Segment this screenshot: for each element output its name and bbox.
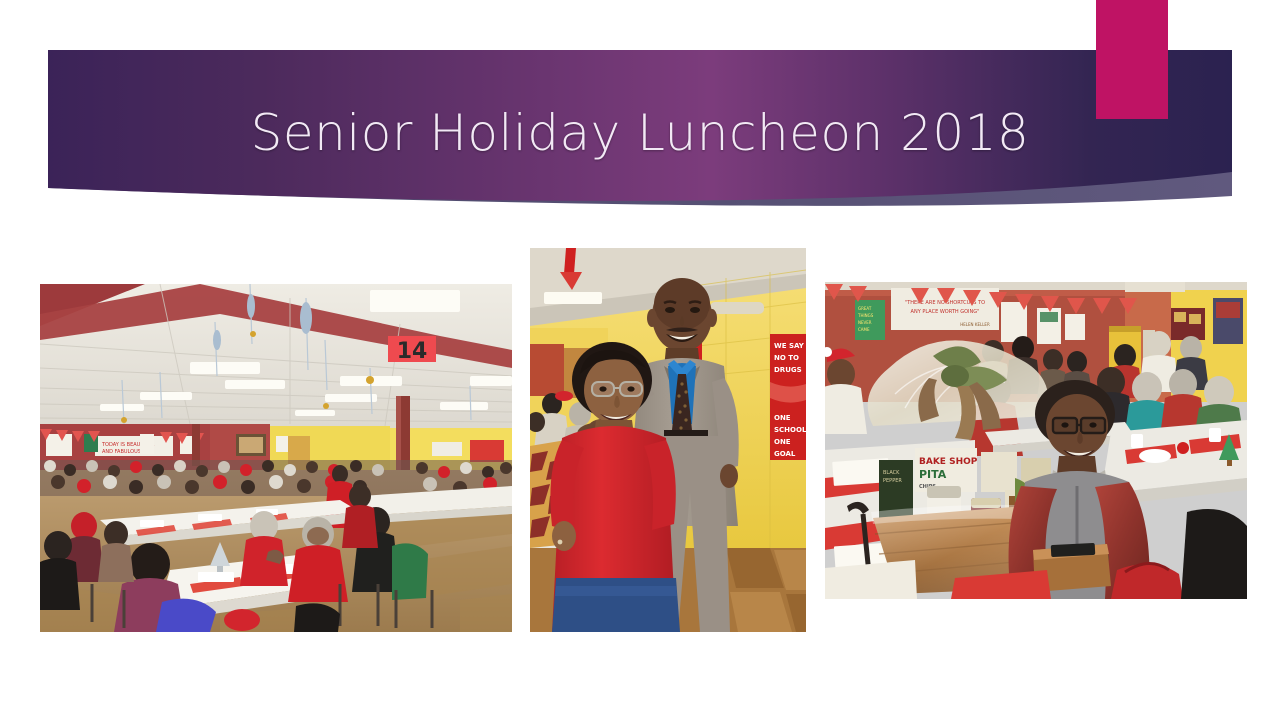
svg-text:HELEN KELLER: HELEN KELLER [960,322,990,327]
svg-text:14: 14 [397,339,428,364]
svg-text:NO TO: NO TO [774,354,799,362]
page-title: Senior Holiday Luncheon 2018 [48,104,1232,162]
svg-text:BLACK: BLACK [883,470,900,476]
svg-text:NEVER: NEVER [858,320,872,325]
svg-text:CAME: CAME [858,327,870,332]
presentation-slide: Senior Holiday Luncheon 2018 [0,0,1280,720]
table-number-sign-14: 14 [388,336,436,364]
svg-text:DRUGS: DRUGS [774,366,802,374]
gift-basket-photo[interactable]: "THERE ARE NO SHORTCUTS TO ANY PLACE WOR… [825,282,1247,599]
svg-text:SCHOOL: SCHOOL [774,426,806,434]
banquet-hall-photo[interactable]: 14 [40,284,512,632]
svg-text:PITA: PITA [919,468,947,481]
svg-text:PEPPER: PEPPER [883,478,902,484]
svg-text:WE SAY: WE SAY [774,342,805,350]
svg-text:GOAL: GOAL [774,450,796,458]
svg-text:THINGS: THINGS [857,313,874,318]
svg-text:BAKE SHOP: BAKE SHOP [919,457,978,467]
poster-no-drugs: WE SAY NO TO DRUGS ONE SCHOOL ONE GOAL [770,334,806,460]
svg-text:GREAT: GREAT [858,306,872,311]
banner-accent-rectangle [1096,0,1168,119]
svg-text:ONE: ONE [774,438,791,446]
couple-portrait-photo[interactable]: WE SAY NO TO DRUGS ONE SCHOOL ONE GOAL [530,248,806,632]
svg-text:ONE: ONE [774,414,791,422]
svg-text:ANY PLACE WORTH GOING": ANY PLACE WORTH GOING" [911,309,980,315]
